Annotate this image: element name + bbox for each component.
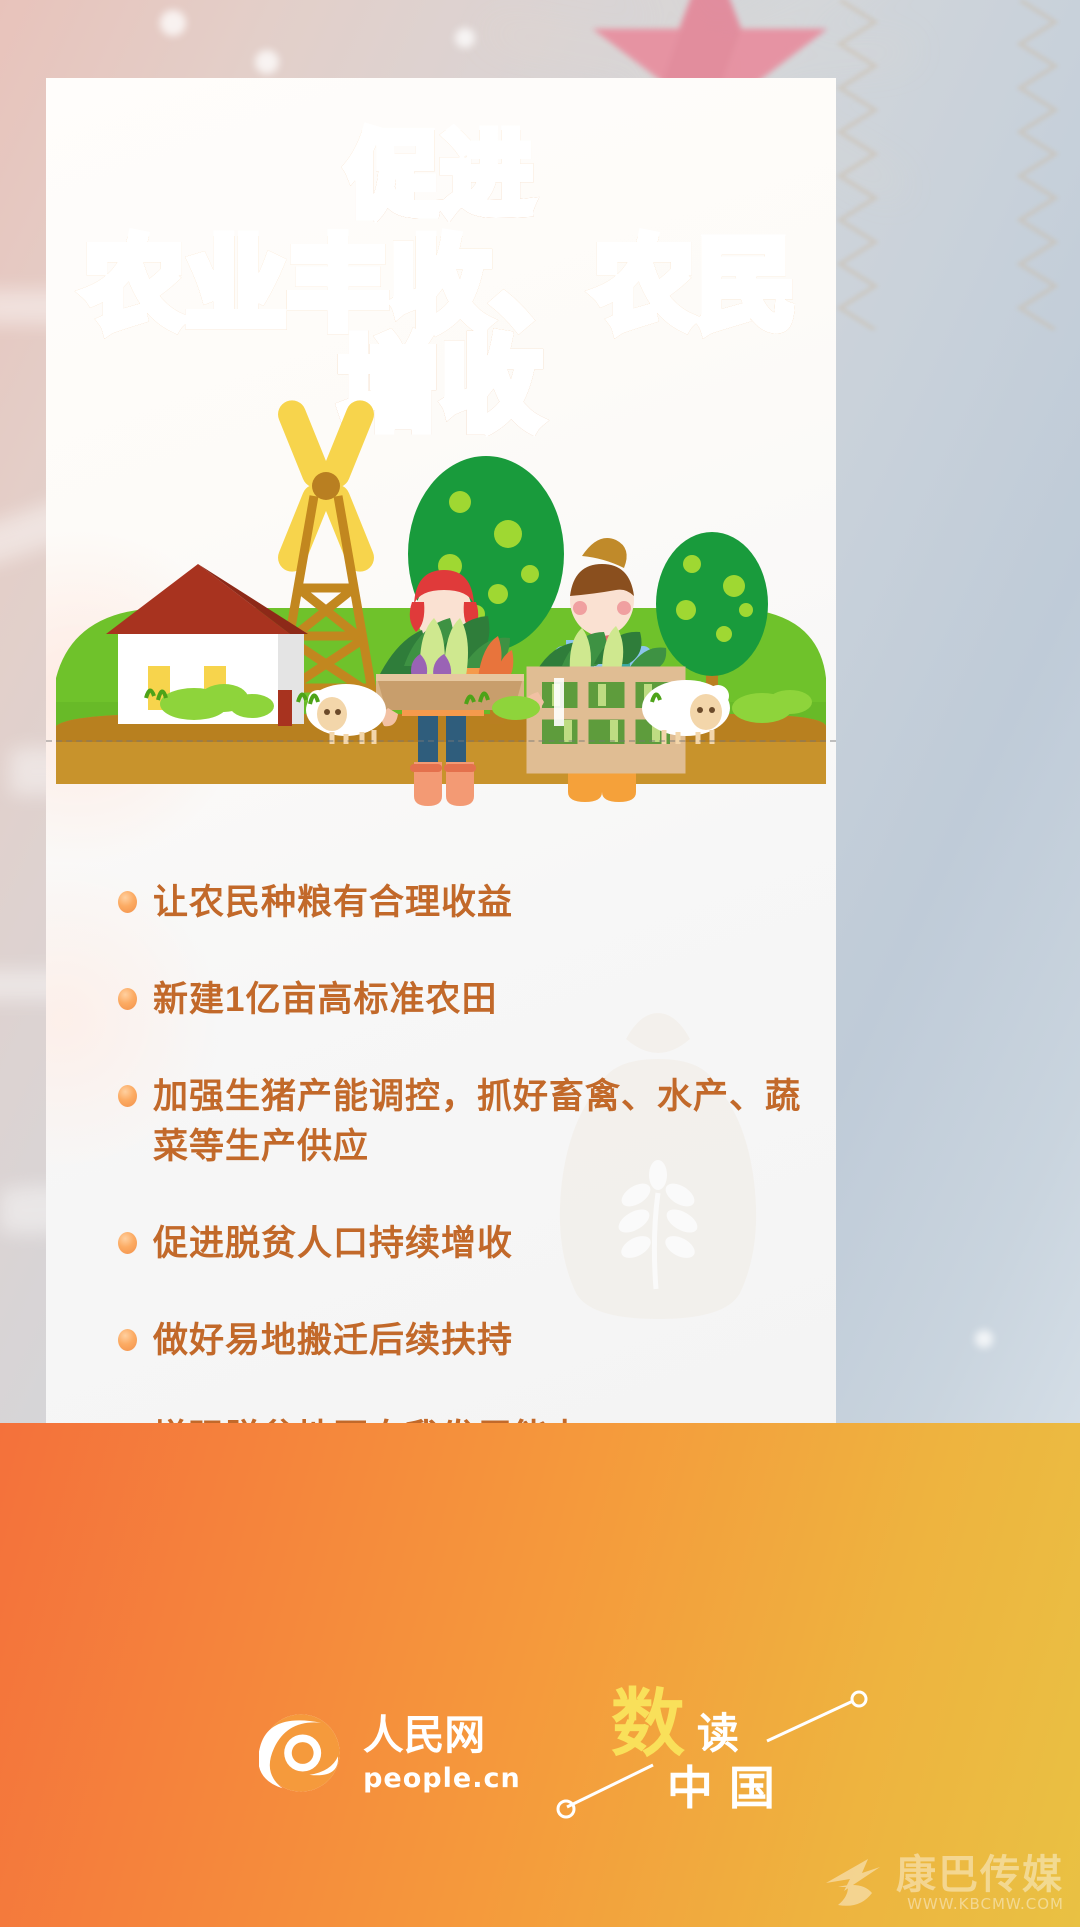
series-deco-line-left-icon (557, 1759, 665, 1819)
bullet-list: 让农民种粮有合理收益 新建1亿亩高标准农田 加强生猪产能调控，抓好畜禽、水产、蔬… (118, 878, 818, 1423)
list-item-label: 让农民种粮有合理收益 (153, 878, 513, 929)
kbcmw-logo-icon (824, 1857, 886, 1913)
title-line-1: 促进 (46, 130, 836, 222)
series-deco-line-right-icon (761, 1693, 871, 1749)
farm-harvest-illustration (46, 378, 836, 828)
list-item-label: 做好易地搬迁后续扶持 (153, 1316, 513, 1367)
list-item-label: 加强生猪产能调控，抓好畜禽、水产、蔬菜等生产供应 (153, 1072, 818, 1174)
list-item: 增强脱贫地区自我发展能力 (118, 1413, 818, 1424)
series-brand-shuduzhongguo: 数 读 中 国 (611, 1687, 821, 1819)
series-char-zhong: 中 (667, 1765, 713, 1811)
dashed-seam-divider (46, 740, 836, 742)
series-char-shu: 数 (611, 1687, 685, 1761)
publisher-name-cn: 人民网 (363, 1712, 549, 1758)
list-item: 促进脱贫人口持续增收 (118, 1219, 818, 1270)
kbcmw-name: 康巴传媒 (896, 1855, 1064, 1895)
list-item: 做好易地搬迁后续扶持 (118, 1316, 818, 1367)
list-item: 让农民种粮有合理收益 (118, 878, 818, 929)
publisher-name-cn-text: 人民网 (363, 1712, 485, 1758)
bullet-dot-icon (118, 891, 137, 913)
poster-card: 促进 农业丰收、农民增收 (46, 78, 836, 1423)
publisher-name-en: people.cn (363, 1763, 521, 1794)
people-cn-globe-icon (259, 1711, 343, 1795)
series-char-guo: 国 (729, 1765, 775, 1811)
bullet-dot-icon (118, 1232, 137, 1254)
list-item-label: 增强脱贫地区自我发展能力 (153, 1413, 585, 1424)
list-item: 新建1亿亩高标准农田 (118, 975, 818, 1026)
kbcmw-watermark: 康巴传媒 WWW.KBCMW.COM (824, 1855, 1064, 1913)
bullet-dot-icon (118, 1329, 137, 1351)
bullet-dot-icon (118, 988, 137, 1010)
list-item-label: 促进脱贫人口持续增收 (153, 1219, 513, 1270)
list-item: 加强生猪产能调控，抓好畜禽、水产、蔬菜等生产供应 (118, 1072, 818, 1174)
series-char-du: 读 (697, 1713, 739, 1755)
background-zigzag-right (1000, 0, 1080, 330)
kbcmw-url: WWW.KBCMW.COM (907, 1895, 1064, 1913)
footer-bar: 人民网 people.cn 数 读 中 国 (0, 1423, 1080, 1927)
bullet-dot-icon (118, 1085, 137, 1107)
people-cn-logo: 人民网 people.cn (259, 1711, 549, 1795)
list-item-label: 新建1亿亩高标准农田 (153, 975, 497, 1026)
